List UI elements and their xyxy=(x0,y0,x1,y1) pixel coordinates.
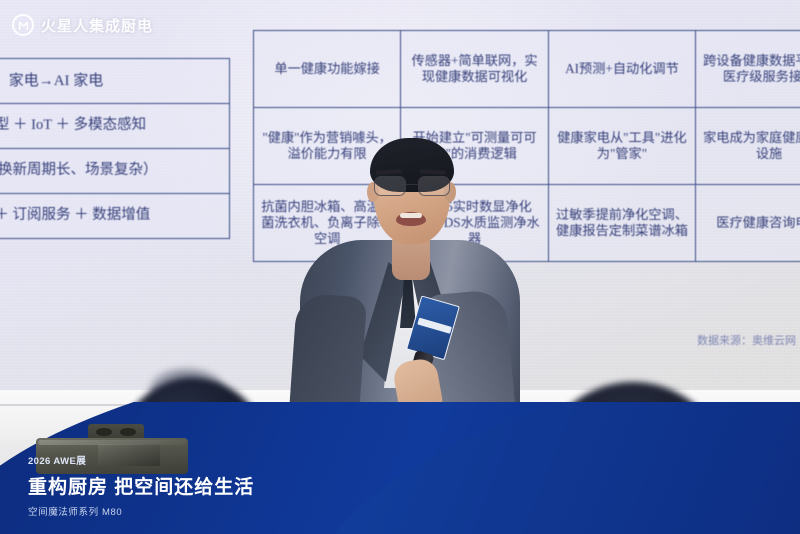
banner-text-block: 2026 AWE展 重构厨房 把空间还给生活 空间魔法师系列 M80 xyxy=(28,453,254,518)
slide-source-note: 数据来源：奥维云网 xyxy=(697,332,796,348)
cell-r2c4: 家电成为家庭健康基础设施 xyxy=(696,108,800,185)
brand-logo: 火星人集成厨电 xyxy=(12,14,153,36)
brand-name: 火星人集成厨电 xyxy=(41,15,153,36)
slide-left-table: 家电→AI 家电 大模型 ＋ IoT ＋ 多模态感知 渗透（换新周期长、场景复杂… xyxy=(0,58,230,239)
bottom-banner: 2026 AWE展 重构厨房 把空间还给生活 空间魔法师系列 M80 xyxy=(0,402,800,534)
speaker-mouth xyxy=(396,212,426,226)
left-row-3: 渗透（换新周期长、场景复杂） xyxy=(0,149,230,194)
left-row-4: 溢价 ＋ 订阅服务 ＋ 数据增值 xyxy=(0,194,230,239)
table-row: 溢价 ＋ 订阅服务 ＋ 数据增值 xyxy=(0,194,230,239)
cell-r2c3: 健康家电从"工具"进化为"管家" xyxy=(548,108,695,185)
product-burner-left xyxy=(96,428,112,436)
banner-subtitle: 空间魔法师系列 M80 xyxy=(28,504,254,518)
cell-r1c2: 传感器+简单联网，实现健康数据可视化 xyxy=(401,31,549,108)
product-highlight xyxy=(38,440,186,445)
table-row: 大模型 ＋ IoT ＋ 多模态感知 xyxy=(0,104,230,149)
cell-r3c3: 过敏季提前净化空调、健康报告定制菜谱冰箱 xyxy=(548,185,695,262)
mars-circle-logo-icon xyxy=(12,14,34,36)
photo-stage: 火星人集成厨电 家电→AI 家电 大模型 ＋ IoT ＋ 多模态感知 渗透（换新… xyxy=(0,0,800,534)
banner-title: 重构厨房 把空间还给生活 xyxy=(28,472,254,499)
product-burner-right xyxy=(120,428,136,436)
table-row: 渗透（换新周期长、场景复杂） xyxy=(0,149,230,194)
glasses-icon xyxy=(372,176,452,196)
table-row: 家电→AI 家电 xyxy=(0,59,230,104)
cell-r1c4: 跨设备健康数据平台、医疗级服务接入 xyxy=(696,31,800,108)
left-row-1: 家电→AI 家电 xyxy=(0,59,230,104)
cell-r1c3: AI预测+自动化调节 xyxy=(548,31,695,108)
cell-r3c4: 医疗健康咨询电视 xyxy=(696,185,800,262)
left-row-2: 大模型 ＋ IoT ＋ 多模态感知 xyxy=(0,104,230,149)
banner-kicker: 2026 AWE展 xyxy=(28,453,254,467)
table-row: 单一健康功能嫁接 传感器+简单联网，实现健康数据可视化 AI预测+自动化调节 跨… xyxy=(254,31,800,108)
cell-r1c1: 单一健康功能嫁接 xyxy=(254,31,401,108)
